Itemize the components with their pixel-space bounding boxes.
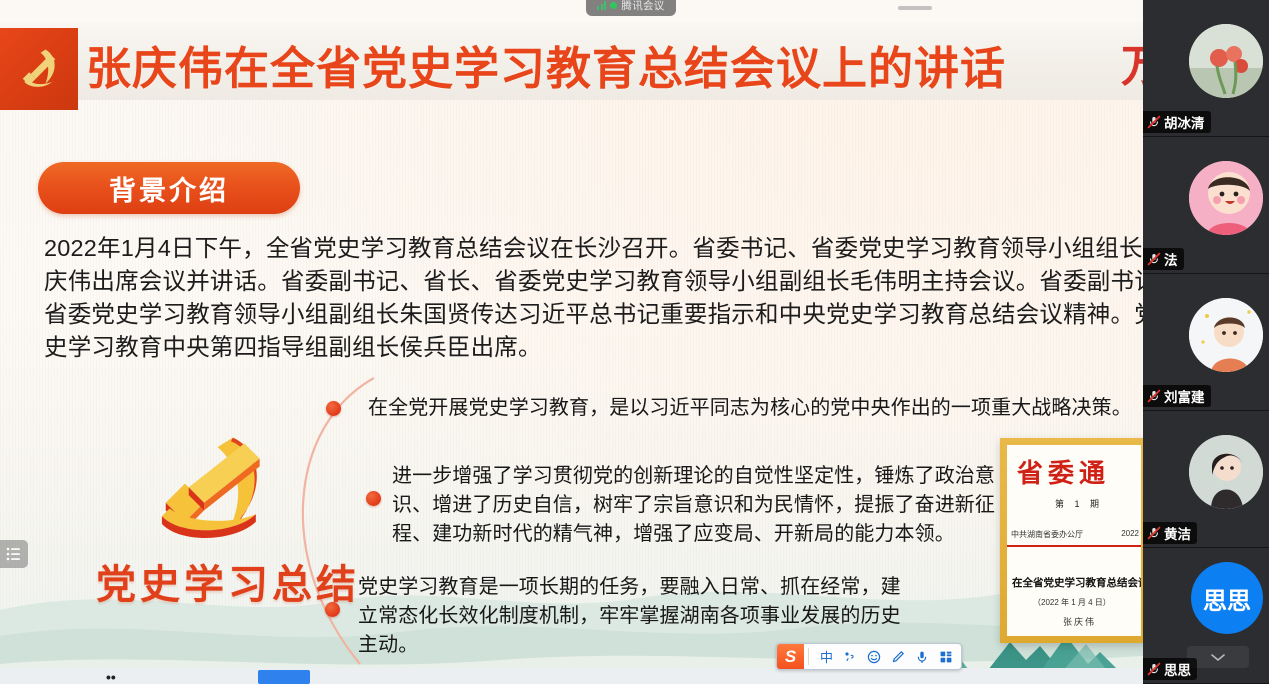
participant-tile[interactable]: 法 [1143,137,1269,274]
participant-name-bar: 法 [1143,248,1184,270]
sogou-ime-toolbar[interactable]: S 中 [776,643,962,670]
bullet-dot-icon [366,491,381,506]
avatar [1189,161,1263,235]
bullet-dot-icon [325,602,340,617]
participant-name: 胡冰清 [1164,112,1205,132]
art-caption: 党史学习总结 [96,552,360,610]
certificate-divider [1007,545,1141,547]
mic-muted-icon [1147,389,1161,403]
participant-tile[interactable]: 胡冰清 [1143,0,1269,137]
participant-sidebar[interactable]: 胡冰清 法 [1143,0,1269,684]
participant-name-bar: 黄洁 [1143,522,1197,544]
paragraph-line: 2022年1月4日下午，全省党史学习教育总结会议在长沙召开。省委书记、省委党史学… [44,232,1143,265]
page-title: 张庆伟在全省党史学习教育总结会议上的讲话 [86,38,1006,100]
apps-grid-icon[interactable] [934,644,958,669]
avatar [1189,298,1263,372]
list-menu-icon [6,546,22,562]
participant-name: 思思 [1164,659,1191,679]
taskbar-active-window[interactable] [258,670,310,684]
certificate-image: 省委通 第 1 期 中共湖南省委办公厅 2022 在全省党史学习教育总结会议 （… [1000,438,1143,643]
chinese-mode-icon[interactable]: 中 [815,644,838,669]
green-status-dot-icon [610,2,617,9]
paragraph-line: 庆伟出席会议并讲话。省委副书记、省长、省委党史学习教育领导小组副组长毛伟明主持会… [44,265,1143,298]
paragraph-line: 史学习教育中央第四指导组副组长侯兵臣出席。 [44,331,1143,364]
participant-name: 黄洁 [1164,523,1191,543]
tencent-meeting-label: 腾讯会议 [621,0,664,13]
certificate-title: 省委通 [1017,453,1110,490]
bullet-line: 立常态化长效化制度机制，牢牢掌握湖南各项事业发展的历史 [358,602,898,631]
avatar: 思思 [1191,562,1263,634]
body-paragraph: 2022年1月4日下午，全省党史学习教育总结会议在长沙召开。省委书记、省委党史学… [44,232,1143,364]
bullet-line: 在全党开展党史学习教育，是以习近平同志为核心的党中央作出的一项重大战略决策。 [368,394,1108,423]
certificate-headline: 在全省党史学习教育总结会议 [1012,575,1141,590]
sogou-logo-icon[interactable]: S [777,644,804,669]
paragraph-line: 省委党史学习教育领导小组副组长朱国贤传达习近平总书记重要指示和中央党史学习教育总… [44,298,1143,331]
punctuation-toggle-icon[interactable] [838,644,862,669]
slide-edge-red-mark: 万 [1121,44,1143,140]
slide-top-strip [0,0,1143,22]
pen-icon[interactable] [886,644,910,669]
certificate-issue: 第 1 期 [1055,497,1103,510]
ime-divider [808,648,809,665]
windows-taskbar-sliver[interactable]: •• [0,668,1143,684]
certificate-page: 省委通 第 1 期 中共湖南省委办公厅 2022 在全省党史学习教育总结会议 （… [1007,445,1141,636]
avatar-initials: 思思 [1203,581,1251,616]
participant-tile[interactable]: 黄洁 [1143,411,1269,548]
emoji-icon[interactable] [862,644,886,669]
mic-muted-icon [1147,252,1161,266]
section-pill-label: 背景介绍 [109,169,229,208]
microphone-icon[interactable] [910,644,934,669]
bullet-text-1: 在全党开展党史学习教育，是以习近平同志为核心的党中央作出的一项重大战略决策。 [368,394,1108,423]
toolbar-drag-handle[interactable] [898,6,932,10]
chevron-down-icon [1210,653,1226,662]
participant-name: 刘富建 [1164,386,1205,406]
slide-list-button[interactable] [0,540,28,568]
participant-name: 法 [1164,249,1178,269]
avatar [1189,435,1263,509]
participant-name-bar: 胡冰清 [1143,111,1211,133]
bullet-line: 程、建功新时代的精气神，增强了应变局、开新局的能力本领。 [392,520,972,549]
mic-muted-icon [1147,115,1161,129]
participant-name-bar: 思思 [1143,658,1197,680]
section-pill: 背景介绍 [38,162,300,214]
tencent-meeting-status-pill[interactable]: 腾讯会议 [586,0,676,16]
bullet-line: 识、增进了历史自信，树牢了宗旨意识和为民情怀，提振了奋进新征 [392,491,972,520]
party-emblem-3d-icon [140,428,295,543]
participant-name-bar: 刘富建 [1143,385,1211,407]
signal-bars-icon [597,1,606,10]
bullet-line: 进一步增强了学习贯彻党的创新理论的自觉性坚定性，锤炼了政治意 [392,462,972,491]
certificate-date: 2022 [1121,529,1139,538]
certificate-org: 中共湖南省委办公厅 [1011,529,1083,540]
participant-tile[interactable]: 刘富建 [1143,274,1269,411]
party-emblem-badge [0,28,78,110]
certificate-signature: 张庆伟 [1063,615,1096,628]
bullet-dot-icon [326,401,341,416]
bullet-line: 党史学习教育是一项长期的任务，要融入日常、抓在经常，建 [358,573,898,602]
taskbar-app-icon[interactable]: •• [106,672,116,682]
avatar [1189,24,1263,98]
certificate-subline: （2022 年 1 月 4 日） [1033,597,1111,608]
shared-slide[interactable]: 张庆伟在全省党史学习教育总结会议上的讲话 万 背景介绍 2022年1月4日下午，… [0,0,1143,684]
participant-tile[interactable]: 思思 思思 [1143,548,1269,684]
hammer-sickle-icon [13,43,65,95]
mic-muted-icon [1147,526,1161,540]
bullet-text-2: 进一步增强了学习贯彻党的创新理论的自觉性坚定性，锤炼了政治意 识、增进了历史自信… [392,462,972,549]
mic-muted-icon [1147,662,1161,676]
